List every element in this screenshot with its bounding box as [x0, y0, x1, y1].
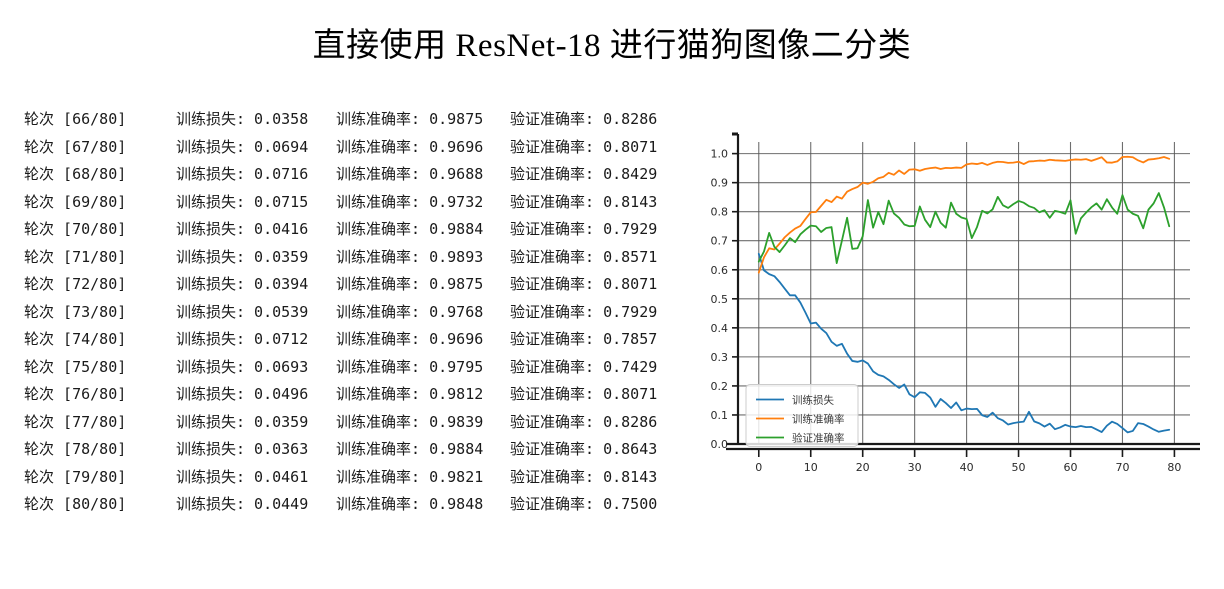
log-epoch-value: [70/80]	[54, 220, 126, 238]
log-epoch-value: [76/80]	[54, 385, 126, 403]
log-train-loss: 训练损失: 0.0363	[176, 438, 336, 459]
axis-x-ticks: 01020304050607080	[755, 449, 1181, 474]
log-val-acc: 验证准确率: 0.8071	[510, 273, 684, 294]
log-epoch-value: [69/80]	[54, 193, 126, 211]
log-train-loss-label: 训练损失:	[176, 165, 245, 183]
log-epoch: 轮次 [69/80]	[24, 191, 176, 212]
log-epoch-label: 轮次	[24, 220, 54, 238]
log-epoch-label: 轮次	[24, 358, 54, 376]
log-epoch-label: 轮次	[24, 138, 54, 156]
log-train-acc: 训练准确率: 0.9875	[336, 273, 510, 294]
log-val-acc-label: 验证准确率:	[510, 138, 594, 156]
log-epoch-label: 轮次	[24, 495, 54, 513]
training-curves-chart: 0.00.10.20.30.40.50.60.70.80.91.00102030…	[694, 112, 1204, 502]
log-train-loss-label: 训练损失:	[176, 358, 245, 376]
log-train-loss-label: 训练损失:	[176, 413, 245, 431]
log-row: 轮次 [76/80]训练损失: 0.0496训练准确率: 0.9812验证准确率…	[24, 383, 684, 411]
tick-label-y: 0.9	[711, 177, 729, 190]
tick-label-y: 0.0	[711, 438, 729, 451]
log-val-acc: 验证准确率: 0.8643	[510, 438, 684, 459]
log-train-acc-label: 训练准确率:	[336, 358, 420, 376]
log-train-acc-label: 训练准确率:	[336, 110, 420, 128]
log-train-acc-value: 0.9875	[420, 110, 483, 128]
log-epoch: 轮次 [70/80]	[24, 218, 176, 239]
log-train-acc-value: 0.9795	[420, 358, 483, 376]
log-train-loss-label: 训练损失:	[176, 220, 245, 238]
chart-legend: 训练损失训练准确率验证准确率	[746, 384, 858, 446]
tick-label-x: 20	[856, 461, 870, 474]
log-val-acc-value: 0.8286	[594, 110, 657, 128]
log-val-acc: 验证准确率: 0.7929	[510, 218, 684, 239]
log-row: 轮次 [77/80]训练损失: 0.0359训练准确率: 0.9839验证准确率…	[24, 411, 684, 439]
log-epoch-label: 轮次	[24, 110, 54, 128]
log-row: 轮次 [66/80]训练损失: 0.0358训练准确率: 0.9875验证准确率…	[24, 108, 684, 136]
log-epoch: 轮次 [79/80]	[24, 466, 176, 487]
log-val-acc: 验证准确率: 0.7857	[510, 328, 684, 349]
log-epoch-value: [77/80]	[54, 413, 126, 431]
log-epoch-label: 轮次	[24, 468, 54, 486]
log-train-loss-label: 训练损失:	[176, 385, 245, 403]
log-train-loss-value: 0.0712	[245, 330, 308, 348]
log-train-acc-value: 0.9696	[420, 138, 483, 156]
log-val-acc: 验证准确率: 0.8286	[510, 108, 684, 129]
log-epoch-label: 轮次	[24, 440, 54, 458]
log-val-acc-label: 验证准确率:	[510, 220, 594, 238]
tick-label-x: 0	[755, 461, 762, 474]
log-train-loss: 训练损失: 0.0461	[176, 466, 336, 487]
log-train-loss-value: 0.0363	[245, 440, 308, 458]
log-train-loss-value: 0.0539	[245, 303, 308, 321]
training-log-panel: 轮次 [66/80]训练损失: 0.0358训练准确率: 0.9875验证准确率…	[24, 108, 684, 521]
tick-label-x: 40	[960, 461, 974, 474]
log-train-acc: 训练准确率: 0.9696	[336, 136, 510, 157]
log-train-loss: 训练损失: 0.0359	[176, 411, 336, 432]
log-epoch: 轮次 [73/80]	[24, 301, 176, 322]
log-train-loss-value: 0.0359	[245, 248, 308, 266]
log-train-loss: 训练损失: 0.0496	[176, 383, 336, 404]
page-title: 直接使用 ResNet-18 进行猫狗图像二分类	[0, 18, 1224, 66]
log-train-acc-value: 0.9884	[420, 220, 483, 238]
log-val-acc: 验证准确率: 0.8071	[510, 383, 684, 404]
log-train-loss: 训练损失: 0.0359	[176, 246, 336, 267]
log-val-acc-value: 0.7929	[594, 303, 657, 321]
tick-label-y: 0.5	[711, 293, 729, 306]
series-line-2	[759, 193, 1169, 263]
tick-label-y: 0.6	[711, 264, 729, 277]
log-epoch-value: [68/80]	[54, 165, 126, 183]
log-epoch: 轮次 [80/80]	[24, 493, 176, 514]
tick-label-x: 30	[908, 461, 922, 474]
log-epoch: 轮次 [74/80]	[24, 328, 176, 349]
tick-label-x: 60	[1064, 461, 1078, 474]
log-train-loss-value: 0.0394	[245, 275, 308, 293]
log-epoch-label: 轮次	[24, 165, 54, 183]
log-epoch: 轮次 [71/80]	[24, 246, 176, 267]
log-epoch-value: [80/80]	[54, 495, 126, 513]
log-val-acc-label: 验证准确率:	[510, 468, 594, 486]
log-epoch-value: [67/80]	[54, 138, 126, 156]
log-epoch-value: [74/80]	[54, 330, 126, 348]
log-row: 轮次 [68/80]训练损失: 0.0716训练准确率: 0.9688验证准确率…	[24, 163, 684, 191]
log-train-acc-label: 训练准确率:	[336, 193, 420, 211]
log-val-acc-label: 验证准确率:	[510, 495, 594, 513]
tick-label-y: 0.1	[711, 409, 729, 422]
log-train-loss-label: 训练损失:	[176, 275, 245, 293]
log-row: 轮次 [78/80]训练损失: 0.0363训练准确率: 0.9884验证准确率…	[24, 438, 684, 466]
log-train-loss-label: 训练损失:	[176, 495, 245, 513]
log-epoch-value: [66/80]	[54, 110, 126, 128]
log-train-acc-label: 训练准确率:	[336, 275, 420, 293]
log-train-acc-value: 0.9884	[420, 440, 483, 458]
log-train-loss-label: 训练损失:	[176, 440, 245, 458]
log-val-acc-label: 验证准确率:	[510, 193, 594, 211]
log-row: 轮次 [75/80]训练损失: 0.0693训练准确率: 0.9795验证准确率…	[24, 356, 684, 384]
log-train-acc-value: 0.9688	[420, 165, 483, 183]
log-val-acc-label: 验证准确率:	[510, 275, 594, 293]
log-train-loss: 训练损失: 0.0693	[176, 356, 336, 377]
log-train-acc-label: 训练准确率:	[336, 138, 420, 156]
axis-y-ticks: 0.00.10.20.30.40.50.60.70.80.91.0	[711, 148, 739, 451]
log-val-acc: 验证准确率: 0.8143	[510, 191, 684, 212]
log-train-loss-value: 0.0496	[245, 385, 308, 403]
log-epoch-label: 轮次	[24, 248, 54, 266]
log-train-loss-value: 0.0358	[245, 110, 308, 128]
log-epoch-label: 轮次	[24, 330, 54, 348]
log-epoch-label: 轮次	[24, 303, 54, 321]
log-train-loss: 训练损失: 0.0416	[176, 218, 336, 239]
log-train-loss-value: 0.0716	[245, 165, 308, 183]
tick-label-y: 0.2	[711, 380, 729, 393]
log-train-loss-label: 训练损失:	[176, 193, 245, 211]
log-train-loss-label: 训练损失:	[176, 468, 245, 486]
log-train-acc-label: 训练准确率:	[336, 440, 420, 458]
log-val-acc-value: 0.7500	[594, 495, 657, 513]
log-epoch: 轮次 [72/80]	[24, 273, 176, 294]
log-epoch-value: [79/80]	[54, 468, 126, 486]
log-epoch: 轮次 [76/80]	[24, 383, 176, 404]
log-epoch-value: [72/80]	[54, 275, 126, 293]
log-train-acc-value: 0.9812	[420, 385, 483, 403]
log-val-acc-value: 0.8071	[594, 138, 657, 156]
log-train-acc-value: 0.9696	[420, 330, 483, 348]
log-train-acc-value: 0.9821	[420, 468, 483, 486]
log-val-acc: 验证准确率: 0.8429	[510, 163, 684, 184]
log-train-acc: 训练准确率: 0.9768	[336, 301, 510, 322]
log-train-acc-label: 训练准确率:	[336, 165, 420, 183]
log-val-acc-value: 0.8286	[594, 413, 657, 431]
log-val-acc-label: 验证准确率:	[510, 110, 594, 128]
log-row: 轮次 [79/80]训练损失: 0.0461训练准确率: 0.9821验证准确率…	[24, 466, 684, 494]
log-val-acc: 验证准确率: 0.7500	[510, 493, 684, 514]
log-epoch: 轮次 [68/80]	[24, 163, 176, 184]
log-val-acc-label: 验证准确率:	[510, 413, 594, 431]
log-train-loss-label: 训练损失:	[176, 330, 245, 348]
log-train-acc: 训练准确率: 0.9893	[336, 246, 510, 267]
series-line-1	[759, 157, 1169, 273]
log-train-acc-label: 训练准确率:	[336, 220, 420, 238]
log-train-acc-label: 训练准确率:	[336, 303, 420, 321]
log-val-acc-label: 验证准确率:	[510, 330, 594, 348]
log-row: 轮次 [67/80]训练损失: 0.0694训练准确率: 0.9696验证准确率…	[24, 136, 684, 164]
log-row: 轮次 [74/80]训练损失: 0.0712训练准确率: 0.9696验证准确率…	[24, 328, 684, 356]
tick-label-y: 1.0	[711, 148, 729, 161]
log-train-loss: 训练损失: 0.0712	[176, 328, 336, 349]
log-train-loss: 训练损失: 0.0449	[176, 493, 336, 514]
tick-label-y: 0.7	[711, 235, 729, 248]
log-row: 轮次 [69/80]训练损失: 0.0715训练准确率: 0.9732验证准确率…	[24, 191, 684, 219]
tick-label-x: 10	[804, 461, 818, 474]
log-row: 轮次 [72/80]训练损失: 0.0394训练准确率: 0.9875验证准确率…	[24, 273, 684, 301]
log-val-acc-label: 验证准确率:	[510, 358, 594, 376]
log-train-acc-value: 0.9732	[420, 193, 483, 211]
log-epoch-value: [71/80]	[54, 248, 126, 266]
log-row: 轮次 [70/80]训练损失: 0.0416训练准确率: 0.9884验证准确率…	[24, 218, 684, 246]
log-val-acc-value: 0.8643	[594, 440, 657, 458]
log-val-acc-value: 0.8071	[594, 275, 657, 293]
log-train-loss-value: 0.0449	[245, 495, 308, 513]
log-train-acc-label: 训练准确率:	[336, 495, 420, 513]
log-train-acc: 训练准确率: 0.9732	[336, 191, 510, 212]
tick-label-x: 70	[1115, 461, 1129, 474]
log-val-acc-label: 验证准确率:	[510, 440, 594, 458]
log-train-acc: 训练准确率: 0.9821	[336, 466, 510, 487]
tick-label-y: 0.8	[711, 206, 729, 219]
log-train-loss: 训练损失: 0.0694	[176, 136, 336, 157]
log-train-loss: 训练损失: 0.0358	[176, 108, 336, 129]
log-train-loss: 训练损失: 0.0715	[176, 191, 336, 212]
log-val-acc-label: 验证准确率:	[510, 248, 594, 266]
log-train-acc: 训练准确率: 0.9884	[336, 438, 510, 459]
log-train-loss-value: 0.0694	[245, 138, 308, 156]
log-train-loss-label: 训练损失:	[176, 303, 245, 321]
log-train-acc-label: 训练准确率:	[336, 413, 420, 431]
log-row: 轮次 [80/80]训练损失: 0.0449训练准确率: 0.9848验证准确率…	[24, 493, 684, 521]
log-epoch: 轮次 [66/80]	[24, 108, 176, 129]
tick-label-x: 80	[1167, 461, 1181, 474]
log-epoch: 轮次 [78/80]	[24, 438, 176, 459]
log-val-acc-label: 验证准确率:	[510, 165, 594, 183]
log-train-acc-label: 训练准确率:	[336, 330, 420, 348]
log-train-loss-value: 0.0416	[245, 220, 308, 238]
log-train-acc-label: 训练准确率:	[336, 248, 420, 266]
log-val-acc: 验证准确率: 0.7929	[510, 301, 684, 322]
log-epoch: 轮次 [77/80]	[24, 411, 176, 432]
legend-label-0: 训练损失	[792, 393, 834, 406]
log-val-acc: 验证准确率: 0.8143	[510, 466, 684, 487]
log-val-acc: 验证准确率: 0.8286	[510, 411, 684, 432]
log-row: 轮次 [71/80]训练损失: 0.0359训练准确率: 0.9893验证准确率…	[24, 246, 684, 274]
log-train-loss-label: 训练损失:	[176, 138, 245, 156]
log-train-acc-label: 训练准确率:	[336, 385, 420, 403]
log-epoch-value: [73/80]	[54, 303, 126, 321]
tick-label-y: 0.4	[711, 322, 729, 335]
log-train-loss-value: 0.0461	[245, 468, 308, 486]
log-val-acc: 验证准确率: 0.7429	[510, 356, 684, 377]
log-val-acc-value: 0.7929	[594, 220, 657, 238]
log-val-acc: 验证准确率: 0.8571	[510, 246, 684, 267]
log-val-acc-value: 0.8071	[594, 385, 657, 403]
log-train-acc: 训练准确率: 0.9884	[336, 218, 510, 239]
log-train-acc-value: 0.9768	[420, 303, 483, 321]
log-val-acc-value: 0.8429	[594, 165, 657, 183]
log-train-loss-label: 训练损失:	[176, 248, 245, 266]
log-val-acc-value: 0.8571	[594, 248, 657, 266]
log-train-acc: 训练准确率: 0.9839	[336, 411, 510, 432]
log-train-acc: 训练准确率: 0.9812	[336, 383, 510, 404]
log-train-acc: 训练准确率: 0.9688	[336, 163, 510, 184]
log-epoch-label: 轮次	[24, 193, 54, 211]
log-val-acc-value: 0.8143	[594, 468, 657, 486]
legend-label-1: 训练准确率	[792, 412, 845, 425]
log-epoch-label: 轮次	[24, 413, 54, 431]
log-train-acc: 训练准确率: 0.9696	[336, 328, 510, 349]
log-epoch-label: 轮次	[24, 275, 54, 293]
log-train-loss-value: 0.0715	[245, 193, 308, 211]
log-epoch: 轮次 [75/80]	[24, 356, 176, 377]
log-train-acc-value: 0.9848	[420, 495, 483, 513]
log-train-acc: 训练准确率: 0.9875	[336, 108, 510, 129]
log-train-acc-value: 0.9875	[420, 275, 483, 293]
log-val-acc: 验证准确率: 0.8071	[510, 136, 684, 157]
tick-label-x: 50	[1012, 461, 1026, 474]
legend-label-2: 验证准确率	[792, 431, 845, 444]
log-train-acc-value: 0.9839	[420, 413, 483, 431]
log-train-loss: 训练损失: 0.0539	[176, 301, 336, 322]
log-train-acc: 训练准确率: 0.9848	[336, 493, 510, 514]
log-train-acc: 训练准确率: 0.9795	[336, 356, 510, 377]
log-val-acc-value: 0.7857	[594, 330, 657, 348]
log-train-acc-label: 训练准确率:	[336, 468, 420, 486]
log-val-acc-label: 验证准确率:	[510, 303, 594, 321]
log-val-acc-value: 0.8143	[594, 193, 657, 211]
log-train-loss-value: 0.0359	[245, 413, 308, 431]
log-epoch-label: 轮次	[24, 385, 54, 403]
log-train-loss-label: 训练损失:	[176, 110, 245, 128]
log-epoch: 轮次 [67/80]	[24, 136, 176, 157]
log-epoch-value: [75/80]	[54, 358, 126, 376]
log-val-acc-label: 验证准确率:	[510, 385, 594, 403]
log-train-loss: 训练损失: 0.0394	[176, 273, 336, 294]
log-train-loss-value: 0.0693	[245, 358, 308, 376]
tick-label-y: 0.3	[711, 351, 729, 364]
log-val-acc-value: 0.7429	[594, 358, 657, 376]
log-train-acc-value: 0.9893	[420, 248, 483, 266]
log-row: 轮次 [73/80]训练损失: 0.0539训练准确率: 0.9768验证准确率…	[24, 301, 684, 329]
log-epoch-value: [78/80]	[54, 440, 126, 458]
log-train-loss: 训练损失: 0.0716	[176, 163, 336, 184]
chart-svg: 0.00.10.20.30.40.50.60.70.80.91.00102030…	[694, 112, 1204, 502]
